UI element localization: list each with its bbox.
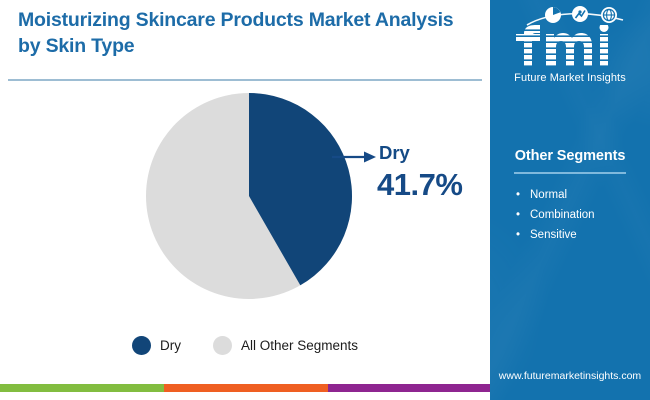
pie-chart-svg bbox=[145, 92, 353, 300]
legend-label-dry: Dry bbox=[160, 338, 181, 353]
other-segment-label: Normal bbox=[530, 189, 567, 201]
other-segments-title: Other Segments bbox=[490, 148, 650, 164]
legend-swatch-all-other-segments bbox=[213, 336, 232, 355]
person-growth-icon bbox=[572, 6, 588, 22]
callout-label: Dry bbox=[379, 142, 410, 164]
pie-chart bbox=[145, 92, 353, 300]
legend-label-all-other-segments: All Other Segments bbox=[241, 338, 358, 353]
brand-panel: Future Market Insights Other Segments • … bbox=[490, 0, 650, 400]
globe-icon bbox=[601, 7, 617, 23]
bullet-icon: • bbox=[516, 226, 520, 246]
legend-item-all-other-segments: All Other Segments bbox=[213, 336, 358, 355]
title-divider bbox=[8, 79, 482, 81]
page-title: Moisturizing Skincare Products Market An… bbox=[18, 8, 478, 59]
list-item: • Sensitive bbox=[516, 226, 650, 246]
strip-segment-orange bbox=[164, 384, 328, 392]
bullet-icon: • bbox=[516, 186, 520, 206]
infographic-page: Moisturizing Skincare Products Market An… bbox=[0, 0, 650, 400]
chart-legend: Dry All Other Segments bbox=[0, 336, 490, 355]
logo-tagline: Future Market Insights bbox=[490, 72, 650, 84]
website-url[interactable]: www.futuremarketinsights.com bbox=[490, 370, 650, 382]
other-segment-label: Combination bbox=[530, 209, 595, 221]
other-segments-box: Other Segments • Normal • Combination • … bbox=[490, 148, 650, 245]
other-segment-label: Sensitive bbox=[530, 229, 577, 241]
strip-segment-green bbox=[0, 384, 164, 392]
legend-item-dry: Dry bbox=[132, 336, 181, 355]
logo-icon-row bbox=[511, 6, 629, 28]
legend-swatch-dry bbox=[132, 336, 151, 355]
logo-icons-svg bbox=[511, 6, 629, 30]
strip-segment-purple bbox=[328, 384, 490, 392]
other-segments-divider bbox=[514, 172, 626, 174]
pie-chart-icon bbox=[545, 7, 561, 23]
callout-value: 41.7% bbox=[377, 167, 462, 203]
chart-panel: Moisturizing Skincare Products Market An… bbox=[0, 0, 490, 392]
bullet-icon: • bbox=[516, 206, 520, 226]
arrow-right-icon bbox=[332, 150, 378, 164]
list-item: • Combination bbox=[516, 206, 650, 226]
other-segments-list: • Normal • Combination • Sensitive bbox=[490, 186, 650, 245]
bottom-color-strip bbox=[0, 384, 490, 392]
fmi-wordmark-icon bbox=[506, 25, 634, 69]
callout-dry: Dry 41.7% bbox=[332, 142, 487, 222]
fmi-logo: Future Market Insights bbox=[490, 6, 650, 84]
list-item: • Normal bbox=[516, 186, 650, 206]
